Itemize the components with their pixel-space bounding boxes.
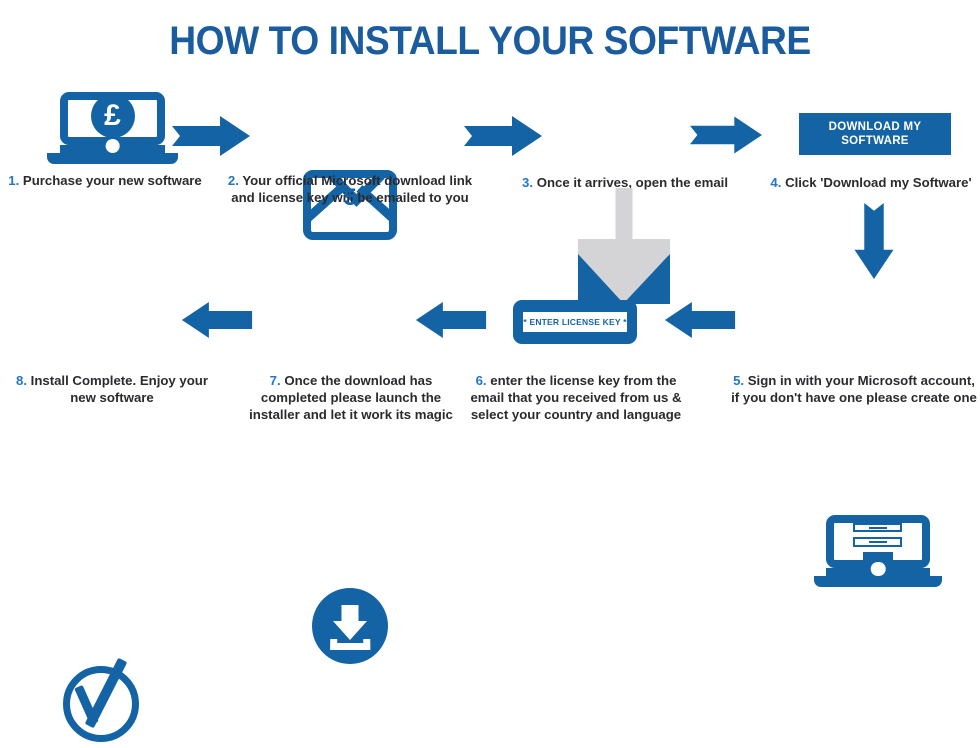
step-8-text: Install Complete. Enjoy your new softwar… [31,373,208,405]
laptop-signin-icon [826,515,930,587]
step-4-text: Click 'Download my Software' [785,175,972,190]
step-1-caption: 1. Purchase your new software [2,172,208,189]
step-1-text: Purchase your new software [23,173,202,188]
download-circle-icon [312,588,388,664]
open-email-download-icon [578,214,670,304]
step-5-text: Sign in with your Microsoft account, if … [731,373,977,405]
envelope-count: 5 [343,184,356,212]
step-5-caption: 5. Sign in with your Microsoft account, … [730,372,978,406]
pound-symbol: £ [91,94,135,138]
arrow-step1-to-step2 [172,116,250,156]
step-4-number: 4. [770,175,781,190]
step-4-caption: 4. Click 'Download my Software' [762,174,980,191]
download-button-icon[interactable]: DOWNLOAD MY SOFTWARE [799,113,951,155]
license-key-placeholder: *** ENTER LICENSE KEY *** [516,317,633,327]
step-8-number: 8. [16,373,27,388]
step-2-number: 2. [228,173,239,188]
laptop-base [47,153,177,164]
signin-laptop-trackpad-dot [871,562,886,577]
step-1-number: 1. [8,173,19,188]
step-8-caption: 8. Install Complete. Enjoy your new soft… [10,372,214,406]
license-key-input[interactable]: *** ENTER LICENSE KEY *** [523,312,627,332]
page-title: HOW TO INSTALL YOUR SOFTWARE [34,18,945,64]
download-arrow-head [602,242,646,268]
arrow-step3-to-step4 [690,116,762,154]
arrow-step5-to-step6 [655,302,745,338]
arrow-step4-to-step5 [850,203,898,279]
license-key-field-icon[interactable]: *** ENTER LICENSE KEY *** [513,300,637,344]
step-6-caption: 6. enter the license key from the email … [468,372,684,423]
download-circle-tray [330,643,370,650]
step-3-number: 3. [522,175,533,190]
arrow-step2-to-step3 [464,116,542,156]
download-arrow-stem [616,188,633,244]
download-button-label: DOWNLOAD MY SOFTWARE [799,120,951,148]
username-field[interactable] [853,523,902,533]
signin-laptop-base [814,576,943,587]
step-7-caption: 7. Once the download has completed pleas… [242,372,460,423]
arrow-step7-to-step8 [172,302,262,338]
laptop-trackpad-dot [105,139,120,154]
step-6-text: enter the license key from the email tha… [470,373,681,422]
laptop-pound-icon: £ [60,92,165,164]
step-7-number: 7. [270,373,281,388]
download-circle-arrow-head [333,621,367,640]
step-5-number: 5. [733,373,744,388]
arrow-step6-to-step7 [407,302,495,338]
signin-submit-button[interactable] [863,552,893,560]
step-6-number: 6. [476,373,487,388]
signin-form [838,523,917,560]
infographic-canvas: HOW TO INSTALL YOUR SOFTWARE £ 1. Purcha… [0,0,980,470]
checkmark-circle-icon [63,652,163,748]
password-field[interactable] [853,537,902,547]
